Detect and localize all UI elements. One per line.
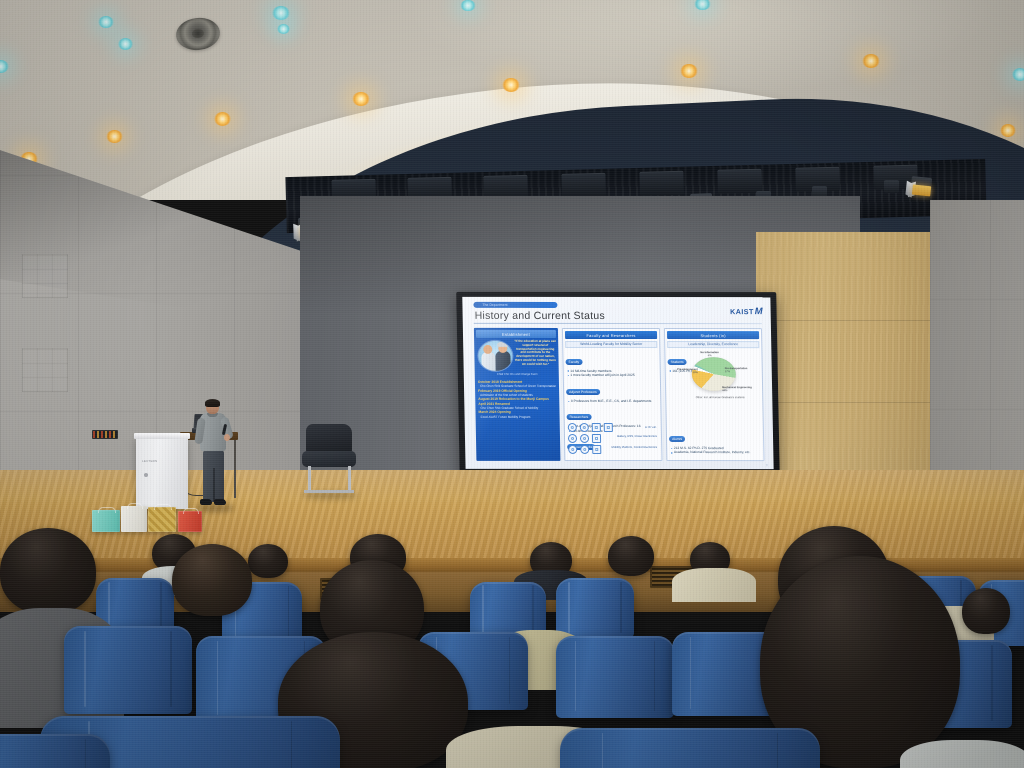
podium-label: LECTERN [142, 459, 157, 463]
chair-rail [304, 490, 354, 493]
globe-icon [568, 423, 577, 432]
panel-establishment-header: Establishment [476, 330, 556, 338]
icon-note: Battery, ESS, Power Electronics [617, 434, 657, 438]
kaist-logo: KAIST M [730, 306, 762, 317]
founders-quote: "If the education at plans can support s… [514, 340, 557, 367]
gear-icon [580, 423, 589, 432]
pie-footnote: Other: Incl. all Korean Graduate's stude… [692, 396, 748, 399]
timeline-item: Excel-KAIST Future Mobility Program [479, 415, 558, 419]
pie-label-pre-transportation: Pre-transportation 17% [725, 367, 753, 373]
wood-panel-seams [756, 232, 932, 500]
panel-faculty-subheader: World-Leading Faculty for Mobility Secto… [565, 340, 657, 347]
acoustic-panel [22, 348, 68, 392]
slide-divider [474, 323, 762, 324]
slide-page-number: 3 [766, 463, 768, 467]
audience-head [608, 536, 654, 576]
group-chip-alumni: Alumni [669, 436, 685, 442]
circuit-icon [592, 434, 601, 443]
panel-establishment: Establishment "If the education at plans… [474, 328, 561, 461]
icon-note: A: 87 etc. [645, 425, 657, 429]
slide-title: History and Current Status [475, 310, 605, 322]
founders-caption: Chief Cho Chu and Change Kwon [478, 373, 557, 376]
projection-screen-bezel: The Department History and Current Statu… [456, 292, 780, 478]
audience-seat[interactable] [556, 636, 674, 718]
group-chip-faculty: Faculty [565, 358, 582, 364]
slide-panels: Establishment "If the education at plans… [474, 328, 765, 461]
group-chip-adjunct: Adjunct Professors [566, 389, 600, 395]
establishment-timeline: October 2018 Establishment Cho Chun Shik… [478, 380, 558, 419]
pie-label-mechanical: Mechanical Engineering 44% [722, 386, 752, 392]
projection-screen[interactable]: The Department History and Current Statu… [462, 297, 773, 469]
group-chip-researchers: Researchers [567, 414, 592, 420]
bullet: 8 Professors from M.E., E.E., CS, and I.… [567, 399, 658, 404]
pie-label-pre-environment: Pre-environment 29% [674, 368, 698, 374]
panel-faculty-research: Faculty and Researchers World-Leading Fa… [562, 328, 663, 461]
founders-portrait [478, 341, 513, 371]
audience-seat[interactable] [556, 578, 634, 638]
audience-head [0, 528, 96, 614]
network-icon [580, 434, 589, 443]
pie-label-no-info: No Information 6% [700, 351, 719, 357]
presenter-hand [224, 434, 230, 441]
audience-seat-front[interactable] [0, 734, 110, 768]
audience-seat-front[interactable] [560, 728, 820, 768]
right-wood-wall [756, 232, 932, 500]
kaist-m-mark: M [755, 306, 762, 317]
panel-students-header: Students (in) [667, 331, 759, 339]
battery-icon [568, 434, 577, 443]
chart-icon [604, 423, 613, 432]
research-lab-icons: A: 87 etc. Battery, ESS, Power Electroni… [568, 423, 659, 457]
podium-emblem [144, 473, 148, 477]
chip-icon [592, 423, 601, 432]
chair-backrest [306, 424, 352, 454]
truss-fixture-icon [884, 180, 899, 193]
control-icon [592, 445, 601, 454]
audience-area [0, 520, 1024, 768]
wheel-icon [580, 445, 589, 454]
icon-note: Mobility Platform, Control Electronics [611, 445, 657, 449]
audience-shoulders [672, 568, 756, 602]
faculty-bullets: 14 full-time faculty members 1 more facu… [567, 368, 658, 377]
auditorium-scene: The Department History and Current Statu… [0, 0, 1024, 768]
slide-eyebrow-banner: The Department [473, 302, 557, 308]
stage-chair [300, 424, 358, 496]
kaist-wordmark: KAIST [730, 307, 754, 316]
adjunct-bullets: 8 Professors from M.E., E.E., CS, and I.… [567, 399, 658, 404]
audience-shoulders [900, 740, 1024, 768]
podium-top [134, 433, 190, 439]
presentation-slide: The Department History and Current Statu… [462, 297, 773, 469]
audience-seat[interactable] [64, 626, 192, 714]
panel-students: Students (in) Leadership, Diversity, Exc… [664, 328, 765, 461]
audience-head [172, 544, 252, 616]
alumni-bullets: 213 M.S. 62 Ph.D. 275 Graduated Academia… [670, 446, 761, 455]
audience-head [248, 544, 288, 578]
chair-seat [302, 451, 356, 467]
bullet: Academia, National Research Institute, I… [670, 450, 761, 455]
panel-faculty-header: Faculty and Researchers [565, 331, 657, 339]
panel-students-subheader: Leadership, Diversity, Excellence [667, 341, 759, 348]
audience-head [962, 588, 1010, 634]
bullet: 1 more faculty member will join in April… [567, 373, 658, 378]
acoustic-panel [22, 254, 68, 298]
presenter-hair [205, 399, 220, 407]
wall-control-panel[interactable] [92, 430, 118, 439]
slide-eyebrow-label: The Department [482, 302, 507, 308]
vehicle-icon [568, 445, 577, 454]
students-pie-chart: No Information 6% Pre-environment 29% Pr… [683, 355, 744, 399]
